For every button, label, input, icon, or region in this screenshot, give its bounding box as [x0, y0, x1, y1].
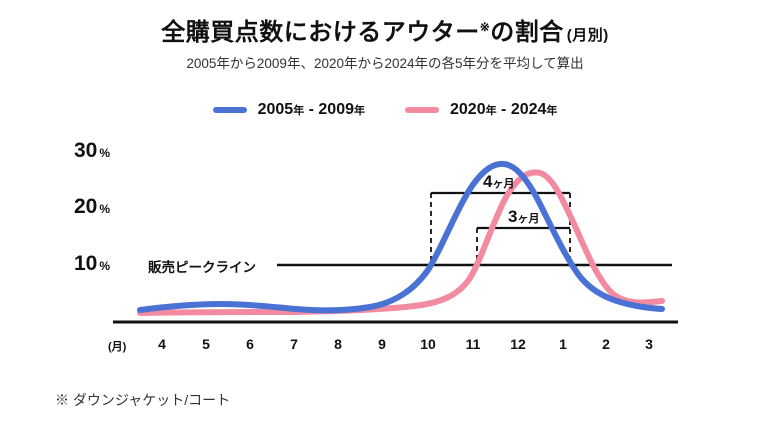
x-tick-8: 8 — [334, 336, 342, 352]
annotation-label-4months: 4ヶ月 — [483, 172, 514, 192]
x-tick-3: 3 — [645, 336, 653, 352]
chart-container: 全購買点数におけるアウター※の割合(月別) 2005年から2009年、2020年… — [0, 0, 770, 433]
series-line-2020-2024 — [140, 172, 662, 313]
chart-plot-area — [0, 0, 770, 433]
x-tick-10: 10 — [420, 336, 436, 352]
x-tick-11: 11 — [466, 336, 481, 352]
x-tick-2: 2 — [602, 336, 610, 352]
x-tick-5: 5 — [202, 336, 210, 352]
annotation-label-3months: 3ヶ月 — [508, 207, 539, 227]
x-tick-12: 12 — [510, 336, 526, 352]
x-tick-4: 4 — [158, 336, 166, 352]
x-tick-7: 7 — [290, 336, 298, 352]
x-axis-unit-label: (月) — [108, 338, 126, 354]
x-tick-1: 1 — [559, 336, 567, 352]
series-line-2005-2009 — [140, 164, 662, 310]
footnote-text: ※ ダウンジャケット/コート — [55, 390, 230, 410]
x-tick-9: 9 — [378, 336, 386, 352]
x-tick-6: 6 — [246, 336, 254, 352]
x-axis-labels: (月) 4 5 6 7 8 9 10 11 12 1 2 3 — [0, 336, 770, 358]
